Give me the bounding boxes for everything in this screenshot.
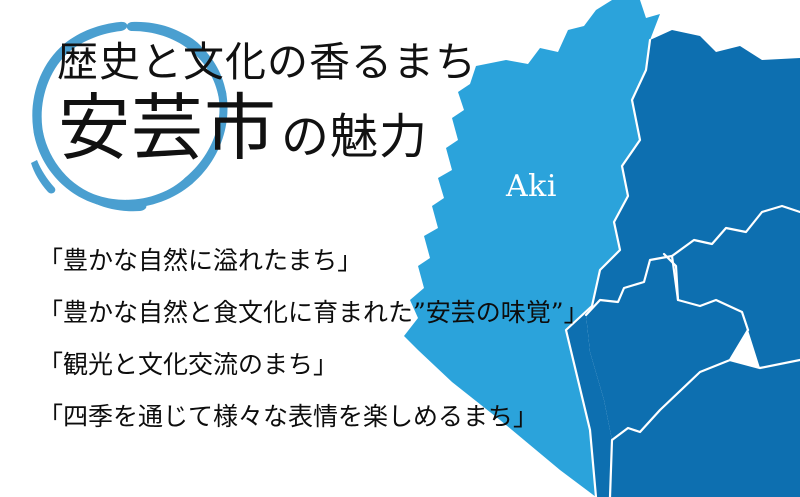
tagline-item: 「豊かな自然に溢れたまち」 [38,248,598,273]
tagline-item: 「四季を通じて様々な表情を楽しめるまち」 [38,404,598,429]
headline-city-name: 安芸市 [58,92,277,164]
tagline-item: 「観光と文化交流のまち」 [38,352,598,377]
poster-canvas: Aki 歴史と文化の香るまち 安芸市 の魅力 [0,0,800,497]
headline-suffix: の魅力 [281,113,428,161]
headline-block: 歴史と文化の香るまち 安芸市 の魅力 [0,0,520,190]
headline-line-2: 安芸市 の魅力 [58,92,428,164]
headline-line-1: 歴史と文化の香るまち [57,42,477,83]
tagline-list: 「豊かな自然に溢れたまち」 「豊かな自然と食文化に育まれた”安芸の味覚”」 「観… [38,248,598,429]
tagline-item: 「豊かな自然と食文化に育まれた”安芸の味覚”」 [38,300,598,325]
